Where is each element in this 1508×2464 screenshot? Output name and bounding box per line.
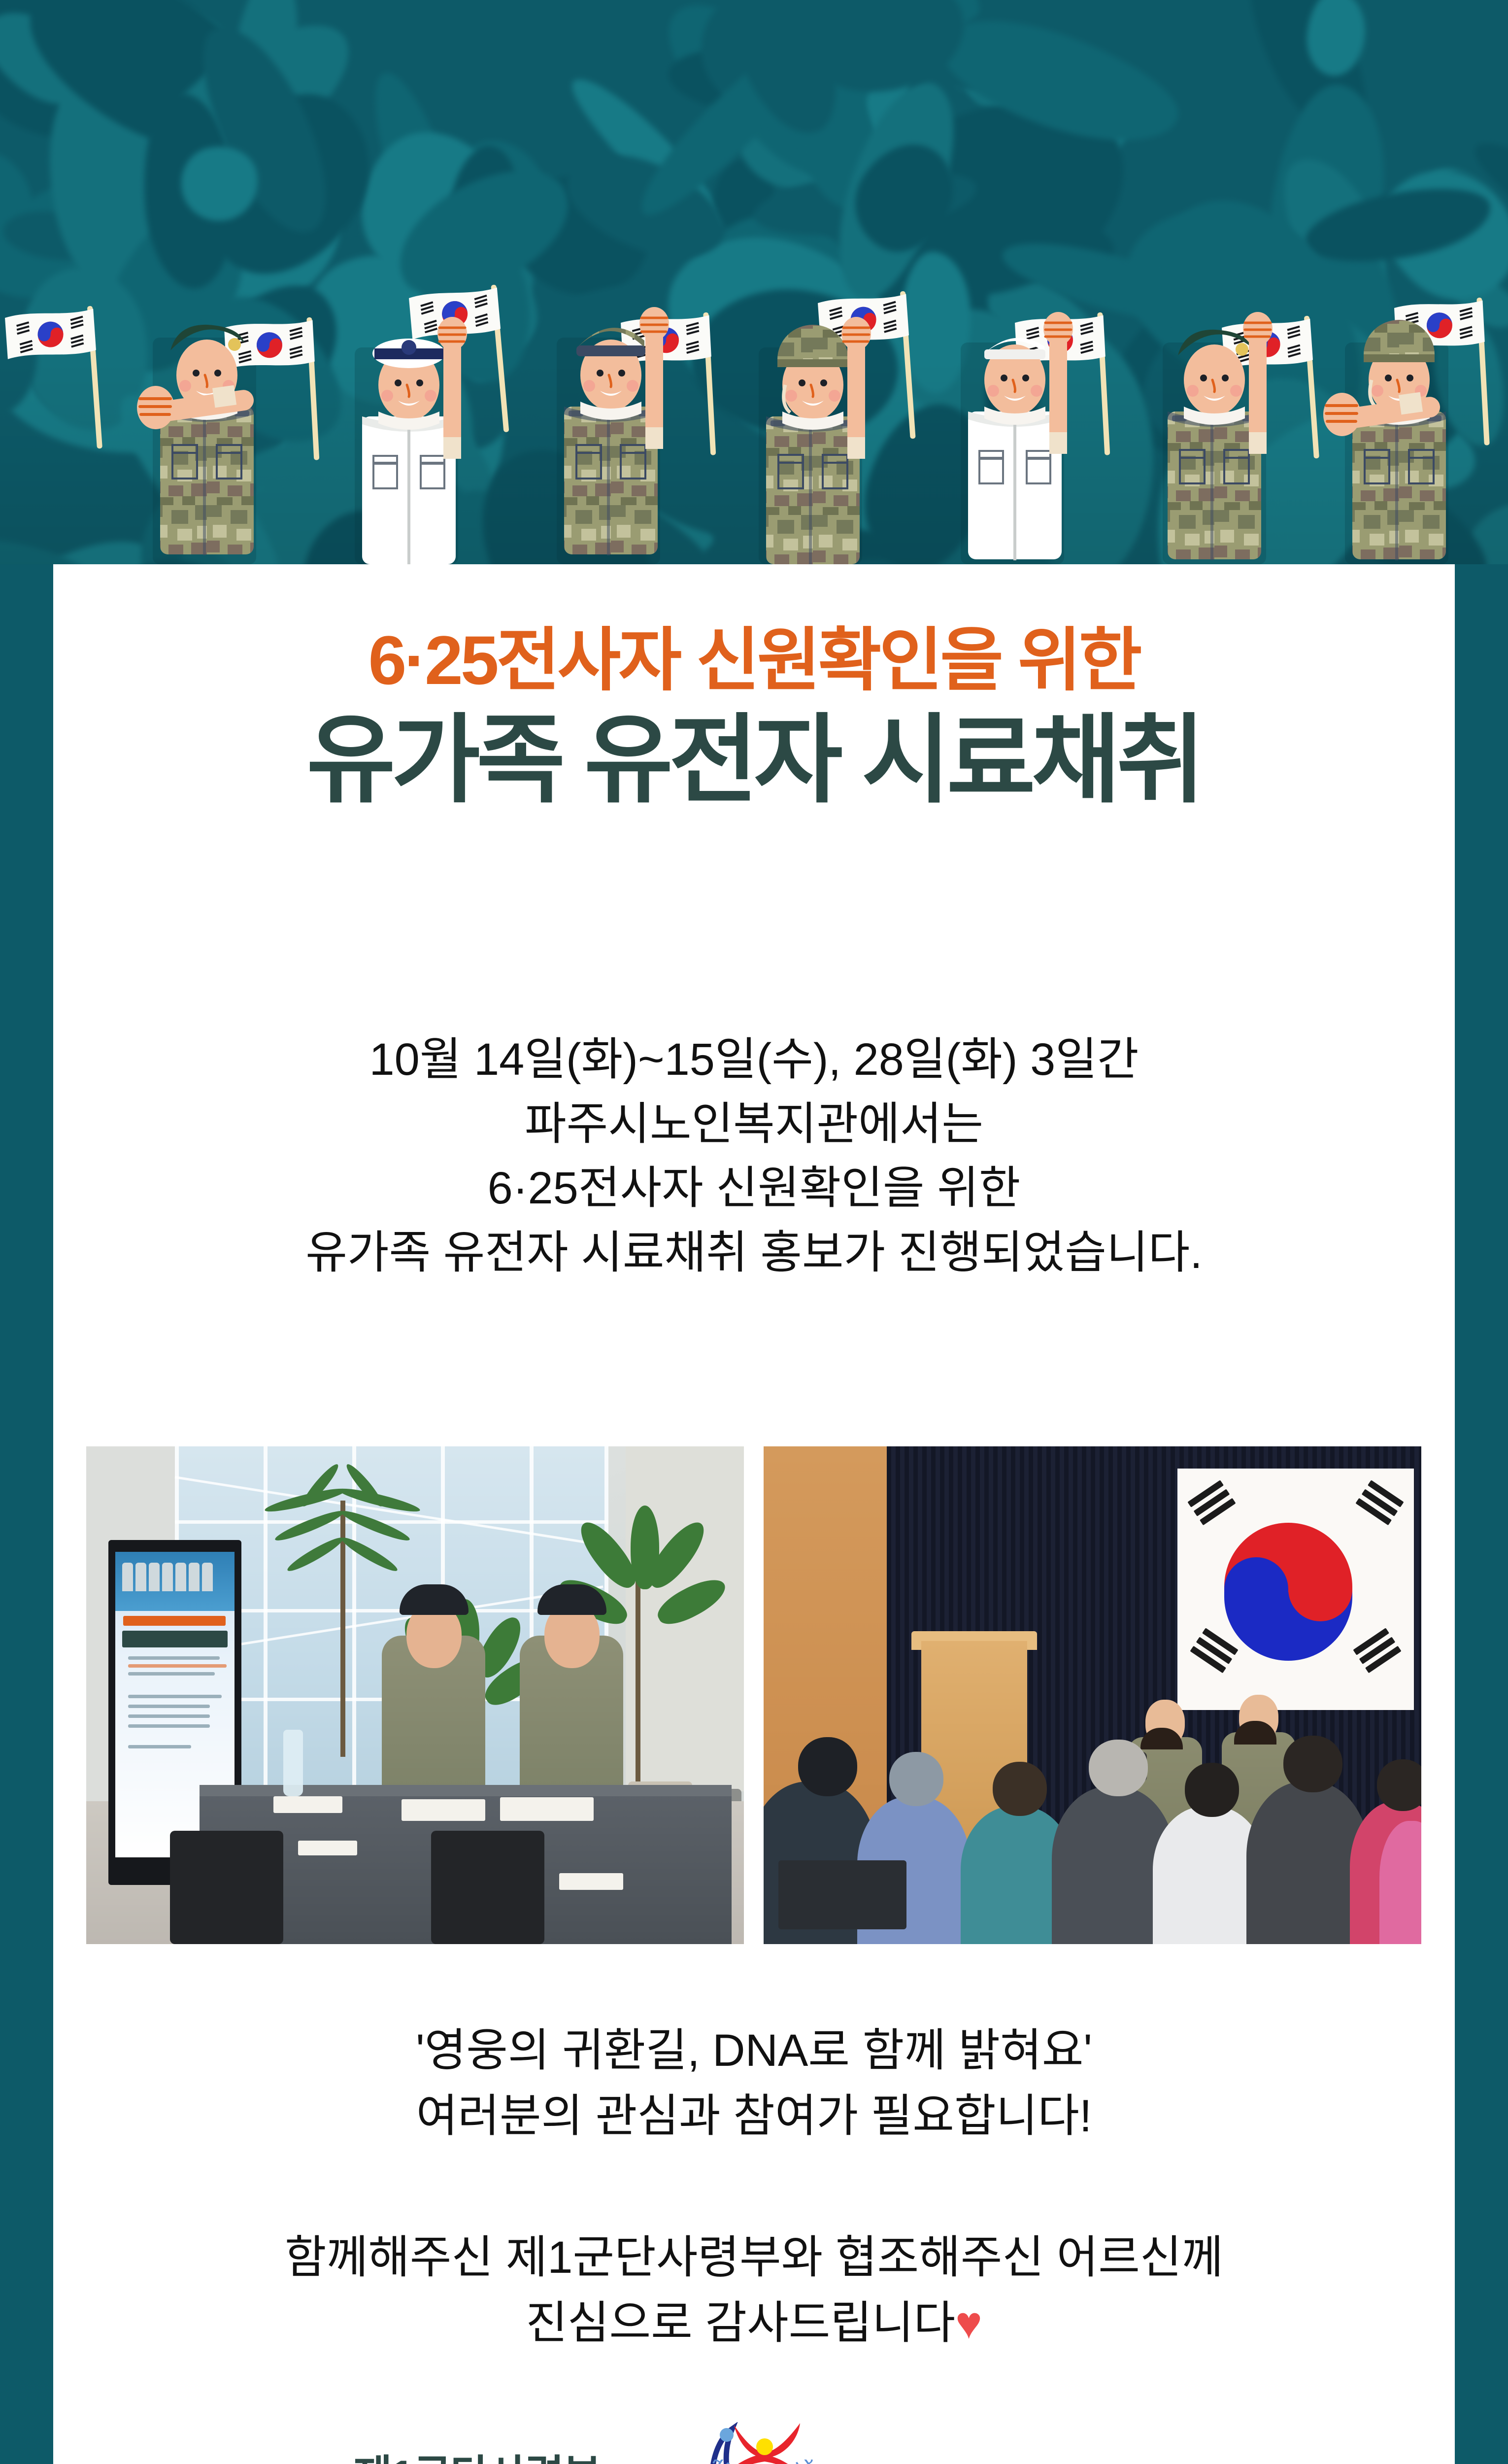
intro-line-1: 10월 14일(화)~15일(수), 28일(화) 3일간 bbox=[53, 1027, 1455, 1092]
logo-army-corps: 제1군단사령부 bbox=[353, 2441, 601, 2464]
happy-world-arc-text: HAPPY WORLD bbox=[712, 2460, 816, 2464]
svg-text:HAPPY WORLD: HAPPY WORLD bbox=[712, 2460, 816, 2464]
intro-line-4: 유가족 유전자 시료채취 홍보가 진행되었습니다. bbox=[53, 1221, 1455, 1285]
floor-speaker-box bbox=[778, 1860, 906, 1929]
thanks-block: 함께해주신 제1군단사령부와 협조해주신 어르신께 진심으로 감사드립니다♥ bbox=[53, 2225, 1455, 2357]
footer-logos: 제1군단사령부 HAPPY WORLD 해피월드 사회복지법인 복지재단 bbox=[53, 2417, 1455, 2464]
intro-line-3: 6·25전사자 신원확인을 위한 bbox=[53, 1156, 1455, 1221]
soldiers-illustration bbox=[0, 180, 1508, 564]
logo-group: HAPPY WORLD 해피월드 사회복지법인 복지재단 파주시노인복지관 bbox=[694, 2422, 1155, 2464]
title-line-1: 6·25전사자 신원확인을 위한 bbox=[53, 626, 1455, 695]
photo-presentation bbox=[764, 1446, 1421, 1944]
happy-world-logo: HAPPY WORLD 해피월드 사회복지법인 복지재단 bbox=[694, 2422, 841, 2464]
soldier-2 bbox=[362, 317, 467, 564]
happy-world-arc-label: HAPPY WORLD bbox=[712, 2460, 816, 2464]
poster-card: 6·25전사자 신원확인을 위한 유가족 유전자 시료채취 10월 14일(화)… bbox=[53, 564, 1455, 2464]
photo-gallery bbox=[86, 1446, 1421, 1944]
thanks-line-1: 함께해주신 제1군단사령부와 협조해주신 어르신께 bbox=[53, 2225, 1455, 2291]
thanks-line-2-text: 진심으로 감사드립니다 bbox=[526, 2298, 955, 2348]
thanks-line-2: 진심으로 감사드립니다♥ bbox=[53, 2291, 1455, 2356]
soldier-4 bbox=[766, 317, 871, 564]
water-bottle bbox=[283, 1730, 303, 1796]
heart-icon: ♥ bbox=[955, 2298, 982, 2348]
slogan-line-2: 여러분의 관심과 참여가 필요합니다! bbox=[53, 2084, 1455, 2149]
slogan-block: '영웅의 귀환길, DNA로 함께 밝혀요' 여러분의 관심과 참여가 필요합니… bbox=[53, 2018, 1455, 2150]
taegeukgi-backdrop bbox=[1177, 1469, 1414, 1710]
soldier-6 bbox=[1168, 312, 1273, 560]
happy-world-mark bbox=[704, 2422, 827, 2464]
logo-senior-welfare-center: 파주시노인복지관 bbox=[851, 2451, 1155, 2464]
intro-line-2: 파주시노인복지관에서는 bbox=[53, 1092, 1455, 1157]
hero-banner bbox=[0, 0, 1508, 564]
soldier-7 bbox=[1323, 320, 1446, 560]
intro-paragraph: 10월 14일(화)~15일(수), 28일(화) 3일간 파주시노인복지관에서… bbox=[53, 1027, 1455, 1285]
photo-booth bbox=[86, 1446, 744, 1944]
title-line-2: 유가족 유전자 시료채취 bbox=[53, 712, 1455, 809]
slogan-line-1: '영웅의 귀환길, DNA로 함께 밝혀요' bbox=[53, 2018, 1455, 2084]
